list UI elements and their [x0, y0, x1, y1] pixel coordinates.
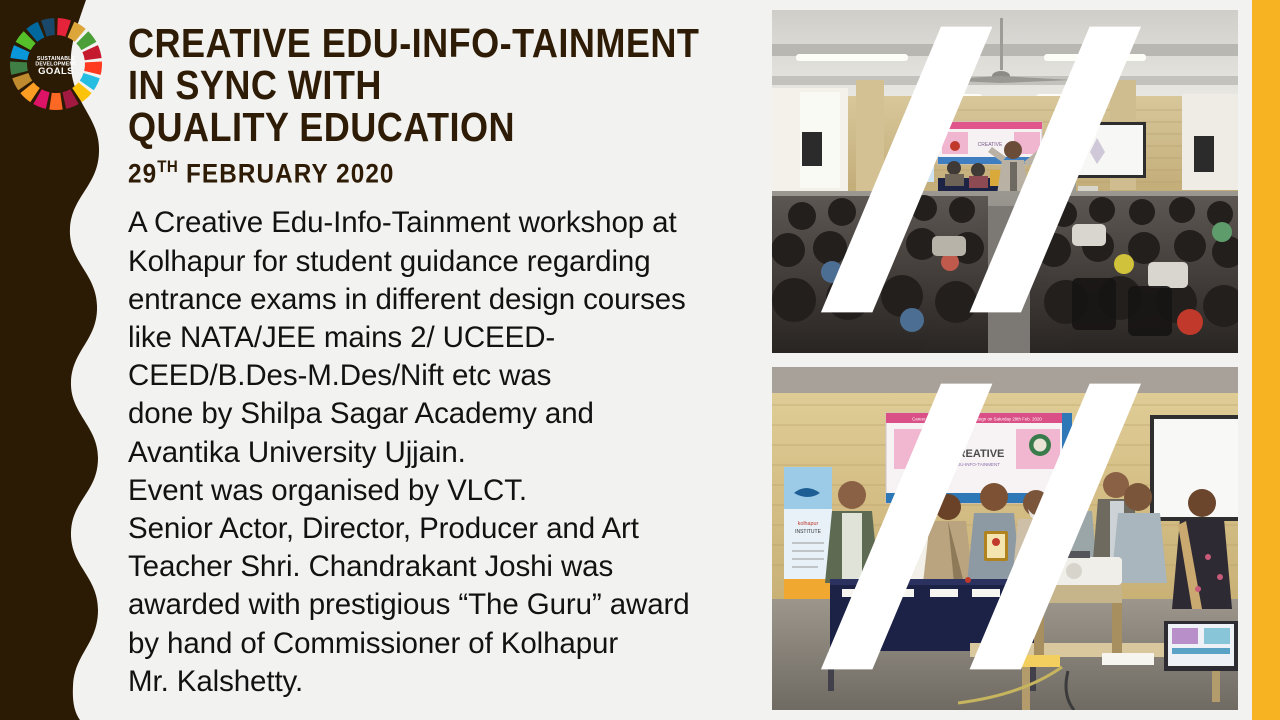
sdg-segment-17	[41, 18, 55, 37]
description-line: Event was organised by VLCT.	[128, 472, 768, 510]
description-line: A Creative Edu-Info-Tainment workshop at	[128, 204, 768, 242]
description-line: Teacher Shri. Chandrakant Joshi was	[128, 548, 768, 586]
headline-line-2: IN SYNC WITH	[128, 64, 682, 106]
photo-award-ceremony: Career Guidance Workshop In Design on Sa…	[772, 367, 1238, 710]
description-line: CEED/B.Des-M.Des/Nift etc was	[128, 357, 768, 395]
headline-line-1: CREATIVE EDU-INFO-TAINMENT	[128, 22, 682, 64]
description-line: Mr. Kalshetty.	[128, 663, 768, 701]
event-date-ordinal: TH	[157, 157, 178, 176]
text-column: CREATIVE EDU-INFO-TAINMENT IN SYNC WITH …	[128, 0, 758, 720]
description-line: awarded with prestigious “The Guru” awar…	[128, 586, 768, 624]
sdg-wheel-logo: SUSTAINABLE DEVELOPMENT GOALS	[6, 14, 106, 114]
sdg-center-line-3: GOALS	[38, 66, 74, 77]
sdg-segment-1	[57, 18, 71, 37]
event-date-day: 29	[128, 158, 157, 188]
description-line: Avantika University Ujjain.	[128, 434, 768, 472]
description-line: by hand of Commissioner of Kolhapur	[128, 625, 768, 663]
right-accent-bar	[1252, 0, 1280, 720]
description-line: Senior Actor, Director, Producer and Art	[128, 510, 768, 548]
description-line: done by Shilpa Sagar Academy and	[128, 395, 768, 433]
sdg-wheel-center-text: SUSTAINABLE DEVELOPMENT GOALS	[35, 56, 77, 77]
event-date-rest: FEBRUARY 2020	[186, 158, 395, 188]
photo-watermark: SHOT ON OPPO	[788, 10, 1238, 341]
photo-watermark: SHOT ON OPPO	[788, 367, 1238, 698]
oppo-logo-icon	[788, 10, 1238, 341]
event-date: 29TH FEBRUARY 2020	[128, 152, 695, 188]
description-line: Kolhapur for student guidance regarding	[128, 243, 768, 281]
sdg-segment-5	[84, 62, 102, 75]
oppo-logo-icon	[788, 367, 1238, 698]
page-title: CREATIVE EDU-INFO-TAINMENT IN SYNC WITH …	[128, 0, 682, 148]
event-description: A Creative Edu-Info-Tainment workshop at…	[128, 204, 768, 701]
description-line: like NATA/JEE mains 2/ UCEED-	[128, 319, 768, 357]
description-line: entrance exams in different design cours…	[128, 281, 768, 319]
photo-column: CREATIVE	[772, 10, 1238, 710]
sdg-segment-9	[49, 93, 62, 110]
photo-seminar-hall: CREATIVE	[772, 10, 1238, 353]
headline-line-3: QUALITY EDUCATION	[128, 106, 682, 148]
sdg-segment-13	[10, 62, 28, 75]
